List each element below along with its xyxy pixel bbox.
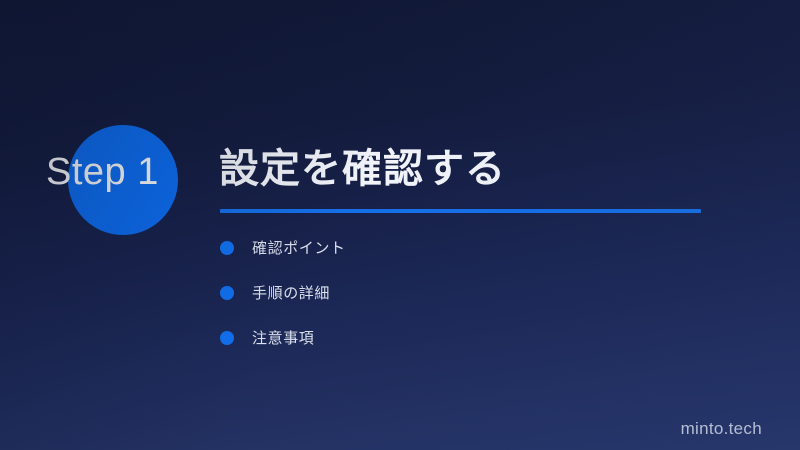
list-item: 確認ポイント [220, 239, 680, 257]
list-item-label: 手順の詳細 [252, 286, 330, 301]
list-item: 注意事項 [220, 329, 680, 347]
bullet-list: 確認ポイント 手順の詳細 注意事項 [220, 239, 680, 374]
list-item: 手順の詳細 [220, 284, 680, 302]
presentation-slide: Step 1 設定を確認する 確認ポイント 手順の詳細 注意事項 minto.t… [0, 0, 800, 450]
list-item-label: 注意事項 [252, 331, 314, 346]
bullet-dot-icon [220, 286, 234, 300]
slide-title: 設定を確認する [219, 148, 506, 191]
bullet-dot-icon [220, 331, 234, 345]
title-underline-rule [220, 209, 701, 213]
step-number-label: Step 1 [46, 153, 159, 191]
watermark-branding: minto.tech [681, 420, 762, 437]
list-item-label: 確認ポイント [252, 241, 346, 256]
bullet-dot-icon [220, 241, 234, 255]
